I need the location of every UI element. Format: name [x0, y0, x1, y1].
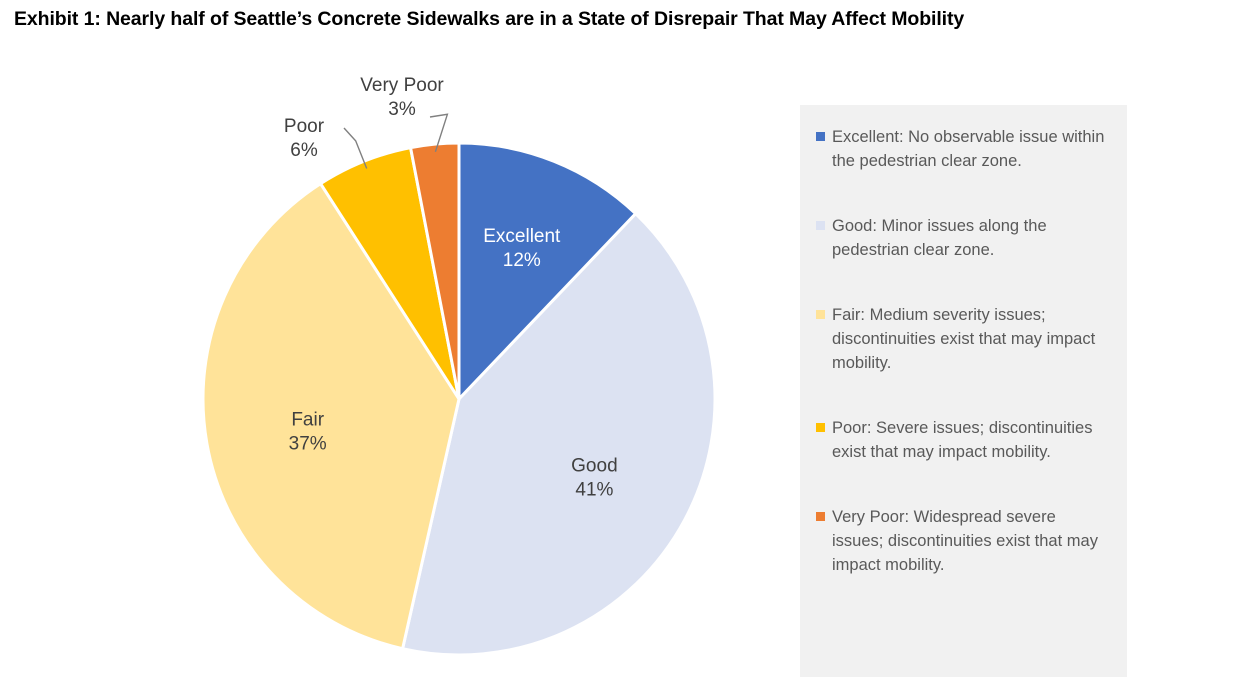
pie-slices	[203, 143, 715, 655]
legend-item-very-poor[interactable]: Very Poor: Widespread severe issues; dis…	[816, 505, 1109, 577]
legend-item-label: Excellent: No observable issue within th…	[832, 125, 1109, 173]
legend-item-label: Poor: Severe issues; discontinuities exi…	[832, 416, 1109, 464]
legend-item-label: Very Poor: Widespread severe issues; dis…	[832, 505, 1109, 577]
legend-marker-icon	[816, 310, 825, 319]
legend-item-label: Good: Minor issues along the pedestrian …	[832, 214, 1109, 262]
legend-item-excellent[interactable]: Excellent: No observable issue within th…	[816, 125, 1109, 173]
legend-item-label: Fair: Medium severity issues; discontinu…	[832, 303, 1109, 375]
slice-label-poor: Poor6%	[284, 116, 325, 161]
legend-marker-icon	[816, 423, 825, 432]
legend-marker-icon	[816, 512, 825, 521]
legend-marker-icon	[816, 221, 825, 230]
pie-chart: Excellent12%Good41%Fair37%Poor6%Very Poo…	[0, 60, 790, 688]
slice-label-very-poor: Very Poor3%	[360, 75, 444, 120]
legend-item-fair[interactable]: Fair: Medium severity issues; discontinu…	[816, 303, 1109, 375]
legend-item-good[interactable]: Good: Minor issues along the pedestrian …	[816, 214, 1109, 262]
legend-item-poor[interactable]: Poor: Severe issues; discontinuities exi…	[816, 416, 1109, 464]
pie-chart-svg: Excellent12%Good41%Fair37%Poor6%Very Poo…	[0, 60, 790, 688]
chart-legend: Excellent: No observable issue within th…	[800, 105, 1127, 677]
page-title: Exhibit 1: Nearly half of Seattle’s Conc…	[14, 4, 1239, 34]
legend-marker-icon	[816, 132, 825, 141]
